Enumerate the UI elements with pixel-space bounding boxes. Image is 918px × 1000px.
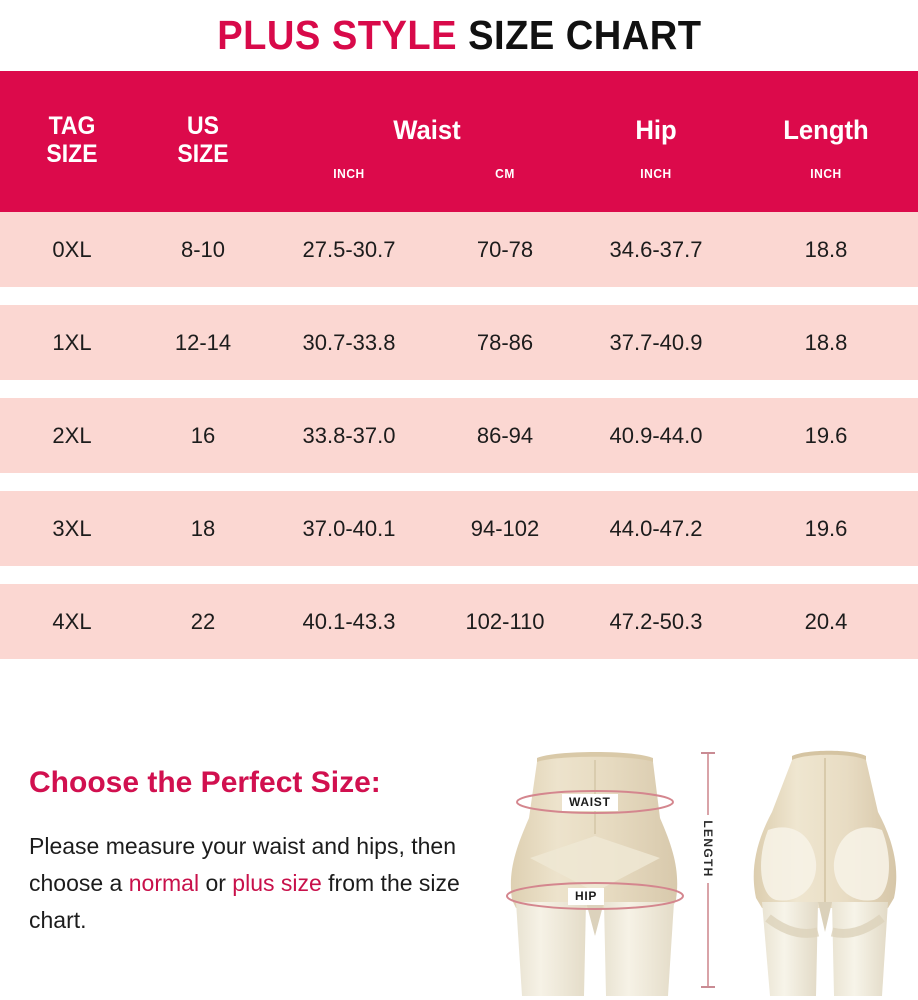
cell-waist-inch: 33.8-37.0: [278, 398, 420, 473]
column-header-us-size-line2: SIZE: [148, 140, 258, 168]
column-header-waist: Waist: [289, 115, 565, 146]
cell-waist-inch: 30.7-33.8: [278, 305, 420, 380]
cell-us-size: 8-10: [143, 212, 263, 287]
cell-waist-cm: 70-78: [437, 212, 573, 287]
page-title-bar: PLUS STYLE SIZE CHART: [0, 0, 918, 71]
cell-waist-inch: 40.1-43.3: [278, 584, 420, 659]
crotch-shape: [586, 902, 604, 936]
choose-size-heading: Choose the Perfect Size:: [29, 766, 381, 800]
length-measure-label: LENGTH: [699, 815, 717, 883]
garment-illustration-area: WAIST HIP LENGTH: [490, 740, 918, 1000]
length-caliper: LENGTH: [696, 752, 720, 988]
page-title: PLUS STYLE SIZE CHART: [217, 15, 701, 56]
column-header-tag-size: TAG SIZE: [17, 112, 127, 169]
cell-hip-inch: 47.2-50.3: [585, 584, 727, 659]
cell-us-size: 12-14: [143, 305, 263, 380]
shapewear-back-view: [742, 740, 908, 1000]
cell-us-size: 22: [143, 584, 263, 659]
cell-tag-size: 1XL: [12, 305, 132, 380]
cell-length-inch: 19.6: [755, 491, 897, 566]
cell-waist-cm: 94-102: [437, 491, 573, 566]
page-title-accent: PLUS STYLE: [217, 12, 457, 58]
column-header-waist-unit-cm: CM: [442, 167, 567, 182]
crotch-shape-back: [818, 902, 832, 932]
guide-highlight-normal: normal: [129, 870, 199, 896]
cell-length-inch: 18.8: [755, 305, 897, 380]
shapewear-front-view: WAIST HIP LENGTH: [500, 740, 690, 1000]
hip-measure-label: HIP: [568, 888, 604, 905]
cell-waist-cm: 86-94: [437, 398, 573, 473]
table-row: 0XL8-1027.5-30.770-7834.6-37.718.8: [0, 212, 918, 287]
column-header-waist-unit-inch: INCH: [284, 167, 415, 182]
column-header-length: Length: [759, 115, 894, 146]
choose-size-body: Please measure your waist and hips, then…: [29, 828, 481, 939]
table-row: 4XL2240.1-43.3102-11047.2-50.320.4: [0, 584, 918, 659]
cell-hip-inch: 34.6-37.7: [585, 212, 727, 287]
page-title-plain: SIZE CHART: [457, 12, 702, 58]
cell-hip-inch: 44.0-47.2: [585, 491, 727, 566]
cell-waist-inch: 37.0-40.1: [278, 491, 420, 566]
waist-measure-label: WAIST: [562, 794, 618, 811]
column-header-us-size: US SIZE: [148, 112, 258, 169]
cell-length-inch: 18.8: [755, 212, 897, 287]
guide-text-part2: or: [199, 870, 232, 896]
cell-hip-inch: 40.9-44.0: [585, 398, 727, 473]
column-header-tag-size-line1: TAG: [17, 112, 127, 140]
cell-tag-size: 3XL: [12, 491, 132, 566]
column-header-hip: Hip: [589, 115, 724, 146]
length-caliper-cap-bottom: [701, 986, 715, 988]
cell-length-inch: 20.4: [755, 584, 897, 659]
guide-highlight-plus-size: plus size: [232, 870, 321, 896]
cell-tag-size: 4XL: [12, 584, 132, 659]
size-chart-table-body: 0XL8-1027.5-30.770-7834.6-37.718.81XL12-…: [0, 212, 918, 677]
cell-tag-size: 2XL: [12, 398, 132, 473]
cell-tag-size: 0XL: [12, 212, 132, 287]
cell-us-size: 18: [143, 491, 263, 566]
cell-waist-cm: 78-86: [437, 305, 573, 380]
right-leg-shape: [604, 902, 674, 996]
cell-waist-cm: 102-110: [437, 584, 573, 659]
column-header-us-size-line1: US: [148, 112, 258, 140]
shapewear-back-svg: [742, 740, 908, 1000]
column-header-tag-size-line2: SIZE: [17, 140, 127, 168]
left-leg-shape: [516, 902, 586, 996]
column-header-length-unit-inch: INCH: [761, 167, 892, 182]
table-row: 1XL12-1430.7-33.878-8637.7-40.918.8: [0, 305, 918, 380]
cell-length-inch: 19.6: [755, 398, 897, 473]
table-row: 2XL1633.8-37.086-9440.9-44.019.6: [0, 398, 918, 473]
shapewear-front-svg: [500, 740, 690, 1000]
cell-hip-inch: 37.7-40.9: [585, 305, 727, 380]
column-header-hip-unit-inch: INCH: [591, 167, 722, 182]
size-chart-table-header: TAG SIZE US SIZE Waist INCH CM Hip INCH …: [0, 71, 918, 212]
cell-us-size: 16: [143, 398, 263, 473]
cell-waist-inch: 27.5-30.7: [278, 212, 420, 287]
length-caliper-cap-top: [701, 752, 715, 754]
table-row: 3XL1837.0-40.194-10244.0-47.219.6: [0, 491, 918, 566]
